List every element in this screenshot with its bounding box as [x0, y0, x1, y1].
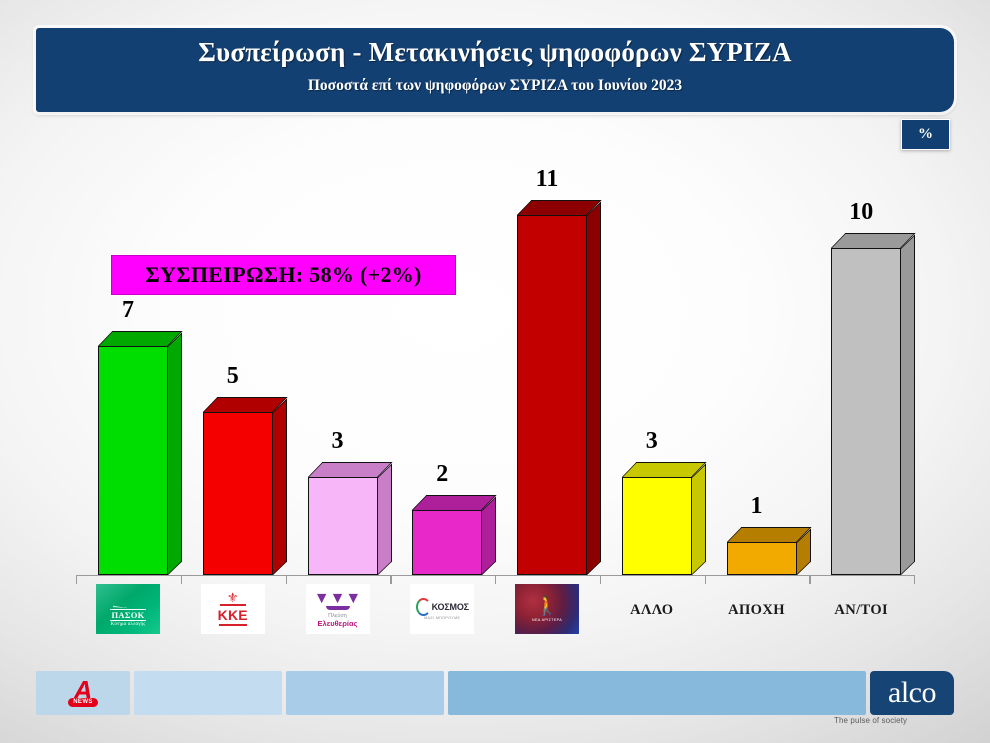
bar-value-label: 1 — [705, 493, 809, 520]
kke-logo: ⚜ KKE — [201, 584, 265, 634]
x-axis-tick — [390, 575, 391, 584]
ship-hull-shape — [326, 606, 350, 610]
bar-value-label: 7 — [76, 297, 180, 324]
category-cell-pasok: ΠΑΣΟΚ Κίνημα αλλαγής — [76, 584, 180, 636]
bar-front-face — [203, 412, 273, 575]
category-cell-nea-aristera: 🚶 ΝΕΑ ΑΡΙΣΤΕΡΑ — [495, 584, 599, 636]
pasok-logo: ΠΑΣΟΚ Κίνημα αλλαγής — [96, 584, 160, 634]
alpha-letter: A — [74, 680, 93, 700]
footer-bar: A NEWS alco — [36, 671, 954, 715]
category-cell-apoxi: ΑΠΟΧΗ — [705, 584, 809, 636]
kke-logo-name: KKE — [218, 607, 248, 623]
bar-front-face — [622, 477, 692, 575]
bar-value-label: 3 — [286, 428, 390, 455]
bar-value-label: 5 — [181, 363, 285, 390]
x-axis-tick — [914, 575, 915, 584]
nea-aristera-logo-name: ΝΕΑ ΑΡΙΣΤΕΡΑ — [532, 618, 562, 622]
header-band: Συσπείρωση - Μετακινήσεις ψηφοφόρων ΣΥΡΙ… — [36, 28, 954, 112]
pleusi-logo-line2: Ελευθερίας — [318, 619, 358, 628]
sailing-ship-icon: ▼▼▼ — [314, 591, 362, 607]
nea-aristera-icon: 🚶 — [535, 597, 559, 616]
category-cell-pleusi: ▼▼▼ Πλεύση Ελευθερίας — [286, 584, 390, 636]
alco-wordmark: alco — [888, 678, 936, 708]
kosmos-logo-name: ΚΟΣΜΟΣ — [432, 602, 469, 612]
category-label-apoxi: ΑΠΟΧΗ — [705, 584, 809, 636]
bar-slot: 10 — [809, 150, 913, 575]
bar-front-face — [831, 248, 901, 575]
bar-front-face — [308, 477, 378, 575]
bar-slot: 11 — [495, 150, 599, 575]
kke-rule-top — [220, 604, 246, 606]
nea-aristera-logo: 🚶 ΝΕΑ ΑΡΙΣΤΕΡΑ — [515, 584, 579, 634]
percent-unit-badge: % — [901, 119, 950, 150]
x-axis-tick — [76, 575, 77, 584]
bar-slot: 2 — [390, 150, 494, 575]
bar-front-face — [517, 215, 587, 575]
bar-4 — [517, 215, 587, 575]
page-subtitle: Ποσοστά επί των ψηφοφόρων ΣΥΡΙΖΑ του Ιου… — [36, 77, 954, 95]
bar-1 — [203, 412, 273, 575]
footer-segment-3 — [448, 671, 866, 715]
category-cell-antoi: ΑΝ/ΤΟΙ — [809, 584, 913, 636]
bar-7 — [831, 248, 901, 575]
kosmos-logo-sub: ΜΑΖΙ ΜΠΟΡΟΥΜΕ — [424, 616, 460, 620]
x-axis-tick — [495, 575, 496, 584]
bar-slot: 3 — [286, 150, 390, 575]
bar-value-label: 11 — [495, 166, 599, 193]
bar-value-label: 2 — [390, 461, 494, 488]
bar-2 — [308, 477, 378, 575]
pasok-logo-name: ΠΑΣΟΚ — [110, 609, 145, 621]
bar-6 — [727, 542, 797, 575]
x-axis-tick — [600, 575, 601, 584]
footer-segment-2 — [286, 671, 444, 715]
kosmos-arc-icon — [416, 598, 431, 616]
bar-3 — [412, 510, 482, 575]
bar-value-label: 10 — [809, 199, 913, 226]
kosmos-logo: ΚΟΣΜΟΣ ΜΑΖΙ ΜΠΟΡΟΥΜΕ — [410, 584, 474, 634]
x-axis-tick — [705, 575, 706, 584]
slide-canvas: Συσπείρωση - Μετακινήσεις ψηφοφόρων ΣΥΡΙ… — [0, 0, 990, 743]
x-axis-tick — [286, 575, 287, 584]
kke-rule-bottom — [219, 624, 247, 626]
bar-slot: 5 — [181, 150, 285, 575]
bar-slot: 7 — [76, 150, 180, 575]
x-axis-tick — [181, 575, 182, 584]
category-cell-allo: ΑΛΛΟ — [600, 584, 704, 636]
hammer-sickle-icon: ⚜ — [227, 592, 239, 603]
alco-tagline: The pulse of society — [834, 716, 944, 725]
alpha-logo-mark: A NEWS — [61, 676, 105, 710]
bar-chart-plot: 7532113110 — [76, 150, 914, 575]
bar-value-label: 3 — [600, 428, 704, 455]
category-cell-kosmos: ΚΟΣΜΟΣ ΜΑΖΙ ΜΠΟΡΟΥΜΕ — [390, 584, 494, 636]
pasok-sun-icon — [113, 595, 143, 608]
x-axis-tick — [809, 575, 810, 584]
bar-slot: 1 — [705, 150, 809, 575]
bar-slot: 3 — [600, 150, 704, 575]
bar-0 — [98, 346, 168, 575]
category-cell-kke: ⚜ KKE — [181, 584, 285, 636]
pleusi-eleftherias-logo: ▼▼▼ Πλεύση Ελευθερίας — [306, 584, 370, 634]
alpha-news-pill: NEWS — [68, 698, 98, 707]
pasok-logo-sub: Κίνημα αλλαγής — [111, 622, 146, 627]
bar-front-face — [98, 346, 168, 575]
category-strip: ΠΑΣΟΚ Κίνημα αλλαγής ⚜ KKE ▼▼▼ Πλεύση Ελ… — [76, 584, 914, 636]
alpha-news-logo: A NEWS — [36, 671, 130, 715]
bar-front-face — [727, 542, 797, 575]
bar-side-face — [901, 235, 915, 575]
category-label-allo: ΑΛΛΟ — [600, 584, 704, 636]
page-title: Συσπείρωση - Μετακινήσεις ψηφοφόρων ΣΥΡΙ… — [36, 37, 954, 68]
alco-logo: alco — [870, 671, 954, 715]
bar-5 — [622, 477, 692, 575]
category-label-antoi: ΑΝ/ΤΟΙ — [809, 584, 913, 636]
kosmos-logo-row: ΚΟΣΜΟΣ — [416, 598, 469, 616]
footer-segment-1 — [134, 671, 282, 715]
bar-front-face — [412, 510, 482, 575]
